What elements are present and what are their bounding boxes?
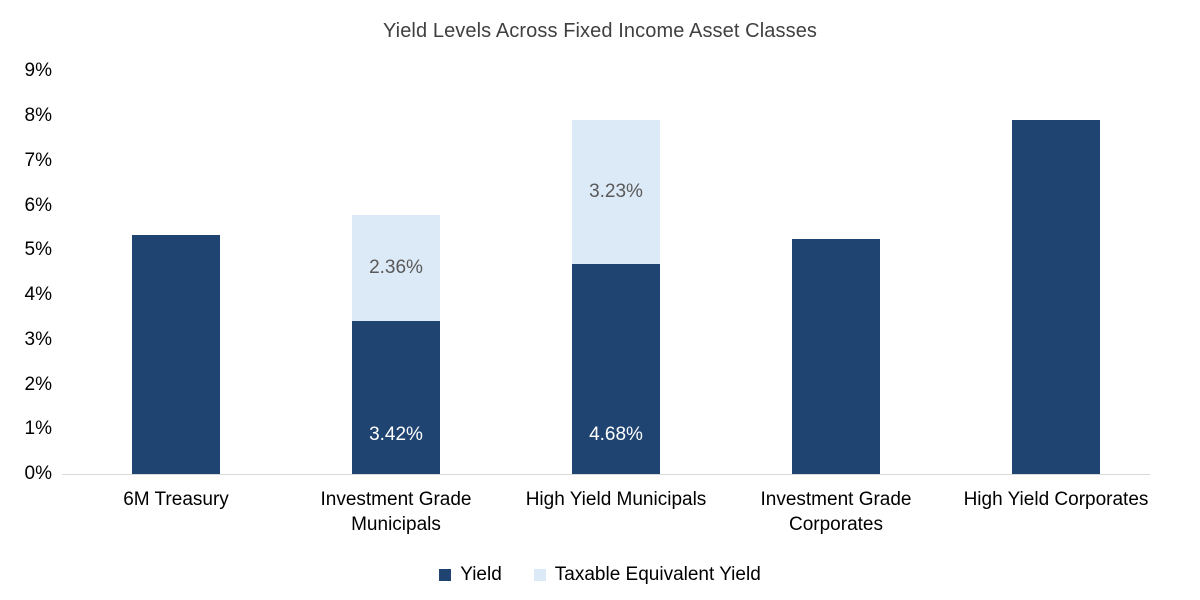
bar-segment-taxable-equivalent-yield[interactable]: 2.36% [352, 215, 440, 321]
bar-segment-yield[interactable]: 3.42% [352, 321, 440, 474]
bar-segment-yield[interactable] [1012, 120, 1100, 474]
legend-item-taxable-equivalent-yield[interactable]: Taxable Equivalent Yield [534, 564, 761, 586]
x-axis-category-investment-grade-corporates: Investment Grade Corporates [736, 487, 936, 537]
bar-segment-label: 3.42% [352, 424, 440, 446]
legend-swatch-icon [439, 569, 451, 581]
x-axis-line [62, 474, 1150, 475]
category-label-line1: 6M Treasury [76, 487, 276, 512]
y-axis-tick-2: 2% [0, 374, 52, 396]
y-axis-tick-8: 8% [0, 105, 52, 127]
bar-group-high-yield-municipals[interactable]: 7.91% 3.23% 4.68% [572, 120, 660, 474]
category-label-line1: Investment Grade [736, 487, 936, 512]
bar-group-6m-treasury[interactable]: 5.33% [132, 235, 220, 474]
x-axis-category-high-yield-municipals: High Yield Municipals [516, 487, 716, 512]
bar-segment-yield[interactable]: 4.68% [572, 264, 660, 474]
x-axis-category-6m-treasury: 6M Treasury [76, 487, 276, 512]
bar-group-high-yield-corporates[interactable]: 7.91% [1012, 120, 1100, 474]
bar-segment-label: 2.36% [352, 257, 440, 279]
category-label-line1: High Yield Corporates [956, 487, 1156, 512]
bar-segment-label: 4.68% [572, 424, 660, 446]
legend-item-label: Taxable Equivalent Yield [555, 564, 761, 586]
bar-group-investment-grade-corporates[interactable]: 5.25% [792, 239, 880, 474]
bar-segment-taxable-equivalent-yield[interactable]: 3.23% [572, 120, 660, 265]
category-label-line2: Corporates [736, 512, 936, 537]
y-axis-tick-3: 3% [0, 329, 52, 351]
y-axis-tick-5: 5% [0, 239, 52, 261]
category-label-line1: Investment Grade [296, 487, 496, 512]
x-axis-category-investment-grade-municipals: Investment Grade Municipals [296, 487, 496, 537]
category-label-line2: Municipals [296, 512, 496, 537]
legend-item-label: Yield [460, 564, 502, 586]
y-axis-tick-4: 4% [0, 284, 52, 306]
y-axis-tick-7: 7% [0, 150, 52, 172]
category-label-line1: High Yield Municipals [516, 487, 716, 512]
x-axis-category-high-yield-corporates: High Yield Corporates [956, 487, 1156, 512]
bar-segment-yield[interactable] [132, 235, 220, 474]
bar-segment-yield[interactable] [792, 239, 880, 474]
y-axis-tick-0: 0% [0, 463, 52, 485]
bar-group-investment-grade-municipals[interactable]: 5.78% 2.36% 3.42% [352, 215, 440, 474]
y-axis-tick-9: 9% [0, 60, 52, 82]
plot-area: 9% 8% 7% 6% 5% 4% 3% 2% 1% 0% 5.33% 5.78… [0, 0, 1200, 600]
chart-legend: Yield Taxable Equivalent Yield [0, 564, 1200, 586]
bar-segment-label: 3.23% [572, 181, 660, 203]
y-axis-tick-1: 1% [0, 418, 52, 440]
legend-swatch-icon [534, 569, 546, 581]
chart-container: Yield Levels Across Fixed Income Asset C… [0, 0, 1200, 600]
y-axis-tick-6: 6% [0, 195, 52, 217]
legend-item-yield[interactable]: Yield [439, 564, 502, 586]
